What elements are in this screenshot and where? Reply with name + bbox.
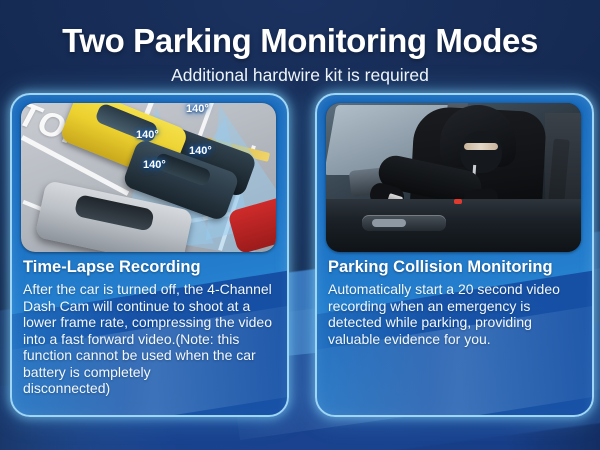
- card-title-parking-collision: Parking Collision Monitoring: [328, 257, 584, 277]
- page-title: Two Parking Monitoring Modes: [0, 0, 600, 60]
- car-break-in-photo: [326, 103, 581, 252]
- page-subtitle: Additional hardwire kit is required: [0, 60, 600, 86]
- poster-header: Two Parking Monitoring Modes Additional …: [0, 0, 600, 86]
- parking-lot-overhead-photo: TOP: [21, 103, 276, 252]
- silver-car-windshield: [74, 194, 155, 232]
- card-body-time-lapse: After the car is turned off, the 4-Chann…: [23, 281, 281, 397]
- interior-door-handle: [362, 215, 446, 231]
- car-interior-scene: [326, 103, 581, 252]
- feature-card-group: TOP: [0, 93, 600, 415]
- card-title-time-lapse: Time-Lapse Recording: [23, 257, 279, 277]
- fov-angle-badge: 140°: [189, 145, 212, 157]
- fov-angle-badge: 140°: [136, 129, 159, 141]
- intruder-balaclava: [460, 131, 502, 173]
- feature-card-parking-collision[interactable]: Parking Collision Monitoring Automatical…: [315, 93, 594, 417]
- card-body-parking-collision: Automatically start a 20 second video re…: [328, 281, 586, 347]
- parking-lot-surface: TOP: [21, 103, 276, 252]
- poster-canvas: Two Parking Monitoring Modes Additional …: [0, 0, 600, 450]
- intruder-eyes: [464, 143, 498, 150]
- feature-card-time-lapse[interactable]: TOP: [10, 93, 289, 417]
- fov-angle-badge: 140°: [143, 159, 166, 171]
- fov-angle-badge: 140°: [186, 103, 209, 115]
- door-warning-light: [454, 199, 462, 204]
